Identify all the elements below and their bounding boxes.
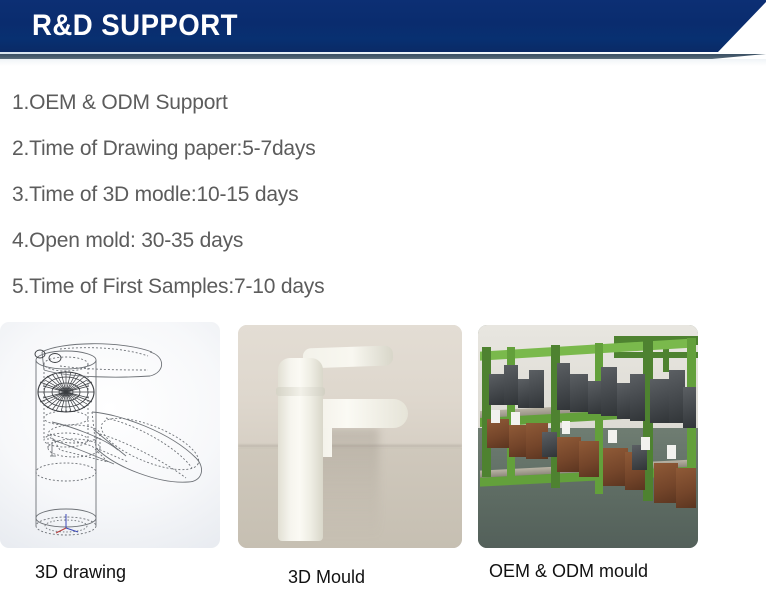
header-light-separator: [0, 52, 766, 54]
mould-storage-rack-photo: [478, 325, 698, 548]
header-accent-bar: [0, 54, 766, 59]
list-item: 2.Time of Drawing paper:5-7days: [12, 126, 612, 172]
gallery-caption: 3D drawing: [35, 562, 126, 583]
cad-wireframe-faucet-icon: [0, 322, 220, 548]
gallery-caption: 3D Mould: [288, 567, 365, 588]
gallery-image-cad-drawing: [0, 322, 220, 548]
list-item: 1.OEM & ODM Support: [12, 80, 612, 126]
list-item: 3.Time of 3D modle:10-15 days: [12, 172, 612, 218]
gallery-caption: OEM & ODM mould: [489, 561, 648, 582]
gallery-image-oem-odm-mould: [478, 325, 698, 548]
gallery-image-3d-mould: [238, 325, 462, 548]
rd-support-list: 1.OEM & ODM Support 2.Time of Drawing pa…: [12, 80, 612, 310]
list-item: 4.Open mold: 30-35 days: [12, 218, 612, 264]
list-item: 5.Time of First Samples:7-10 days: [12, 264, 612, 310]
3d-printed-faucet-photo: [238, 325, 462, 548]
header-fade-shadow: [0, 59, 766, 66]
page-title: R&D SUPPORT: [32, 9, 238, 43]
